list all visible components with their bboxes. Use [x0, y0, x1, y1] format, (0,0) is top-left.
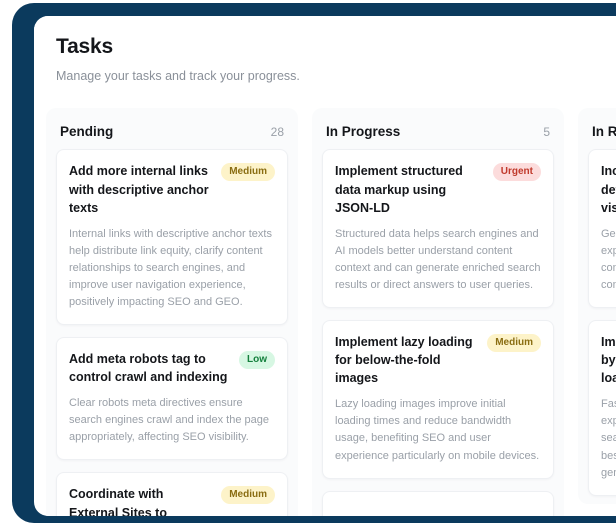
task-description: Internal links with descriptive anchor t…: [69, 226, 275, 311]
task-title: Coordinate with External Sites to Correc…: [69, 485, 213, 516]
kanban-board: Pending28Add more internal links with de…: [34, 98, 616, 516]
page-header: Tasks Manage your tasks and track your p…: [34, 16, 616, 98]
task-title: Implement lazy loading for below-the-fol…: [335, 333, 479, 387]
column-header: In Progress5: [312, 108, 564, 149]
task-description: Faster page loads improve user experienc…: [601, 396, 616, 481]
task-description: Structured data helps search engines and…: [335, 226, 541, 294]
task-card-header: Add more internal links with descriptive…: [69, 162, 275, 216]
column-count: 5: [543, 125, 550, 139]
task-card[interactable]: Add more internal links with descriptive…: [56, 149, 288, 325]
column-card-list: Add more internal links with descriptive…: [46, 149, 298, 516]
task-description: Lazy loading images improve initial load…: [335, 396, 541, 464]
board-column: In ReviewInclude clear and concise defin…: [578, 108, 616, 503]
column-header: Pending28: [46, 108, 298, 149]
column-header: In Review: [578, 108, 616, 149]
task-title: Implement structured data markup using J…: [335, 162, 485, 216]
task-card[interactable]: Include clear and concise definitions of…: [588, 149, 616, 308]
task-card-header: Coordinate with External Sites to Correc…: [69, 485, 275, 516]
task-description: Generative engines rely on definitions a…: [601, 226, 616, 294]
task-title: Add meta robots tag to control crawl and…: [69, 350, 231, 386]
board-column: Pending28Add more internal links with de…: [46, 108, 298, 516]
task-card-header: Implement structured data markup using J…: [335, 162, 541, 216]
device-frame: Tasks Manage your tasks and track your p…: [12, 3, 616, 523]
board-column: In Progress5Implement structured data ma…: [312, 108, 564, 516]
priority-badge: Low: [239, 351, 275, 369]
column-title: In Progress: [326, 124, 400, 139]
task-card-header: Include clear and concise definitions of…: [601, 162, 616, 216]
task-card-header: Add meta robots tag to control crawl and…: [69, 350, 275, 386]
task-card-header: Improve page load performance by optimiz…: [601, 333, 616, 387]
task-card-header: Implement lazy loading for below-the-fol…: [335, 333, 541, 387]
column-card-list: Implement structured data markup using J…: [312, 149, 564, 516]
task-card[interactable]: Improve page load performance by optimiz…: [588, 320, 616, 496]
priority-badge: Medium: [221, 486, 275, 504]
task-card[interactable]: Implement lazy loading for below-the-fol…: [322, 320, 554, 479]
task-description: Clear robots meta directives ensure sear…: [69, 395, 275, 446]
column-count: 28: [271, 125, 284, 139]
task-card[interactable]: [322, 491, 554, 516]
priority-badge: Medium: [221, 163, 275, 181]
priority-badge: Medium: [487, 334, 541, 352]
priority-badge: Urgent: [493, 163, 541, 181]
task-title: Improve page load performance by optimiz…: [601, 333, 616, 387]
task-card[interactable]: Coordinate with External Sites to Correc…: [56, 472, 288, 516]
page-subtitle: Manage your tasks and track your progres…: [56, 68, 616, 84]
page-title: Tasks: [56, 34, 616, 59]
task-title: Include clear and concise definitions of…: [601, 162, 616, 216]
task-card[interactable]: Implement structured data markup using J…: [322, 149, 554, 308]
column-card-list: Include clear and concise definitions of…: [578, 149, 616, 495]
tasks-page: Tasks Manage your tasks and track your p…: [34, 16, 616, 516]
task-card[interactable]: Add meta robots tag to control crawl and…: [56, 337, 288, 460]
column-title: In Review: [592, 124, 616, 139]
column-title: Pending: [60, 124, 113, 139]
task-title: Add more internal links with descriptive…: [69, 162, 213, 216]
